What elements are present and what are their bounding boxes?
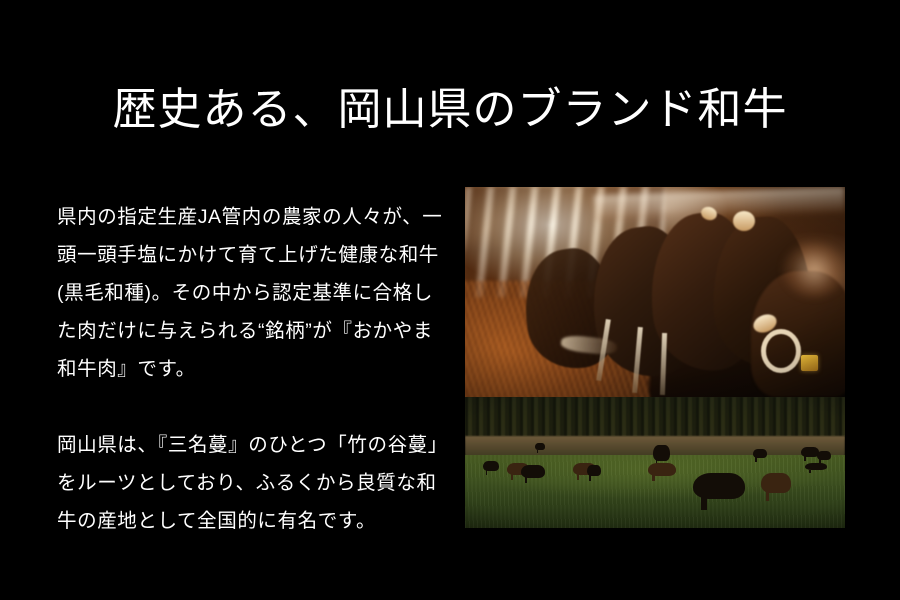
pasture-vignette [465, 397, 845, 528]
slide-root: 歴史ある、岡山県のブランド和牛 県内の指定生産JA管内の農家の人々が、一頭一頭手… [0, 0, 900, 600]
wagyu-cattle-in-barn-photo [465, 187, 845, 397]
barn-vignette [465, 187, 845, 397]
paragraph-brand-definition: 県内の指定生産JA管内の農家の人々が、一頭一頭手塩にかけて育て上げた健康な和牛(… [57, 198, 447, 388]
cattle-grazing-pasture-photo [465, 397, 845, 528]
body-copy: 県内の指定生産JA管内の農家の人々が、一頭一頭手塩にかけて育て上げた健康な和牛(… [57, 178, 447, 559]
paragraph-history-origin: 岡山県は、『三名蔓』のひとつ「竹の谷蔓」をルーツとしており、ふるくから良質な和牛… [57, 426, 447, 540]
page-title: 歴史ある、岡山県のブランド和牛 [0, 81, 900, 139]
photo-column [465, 187, 845, 528]
